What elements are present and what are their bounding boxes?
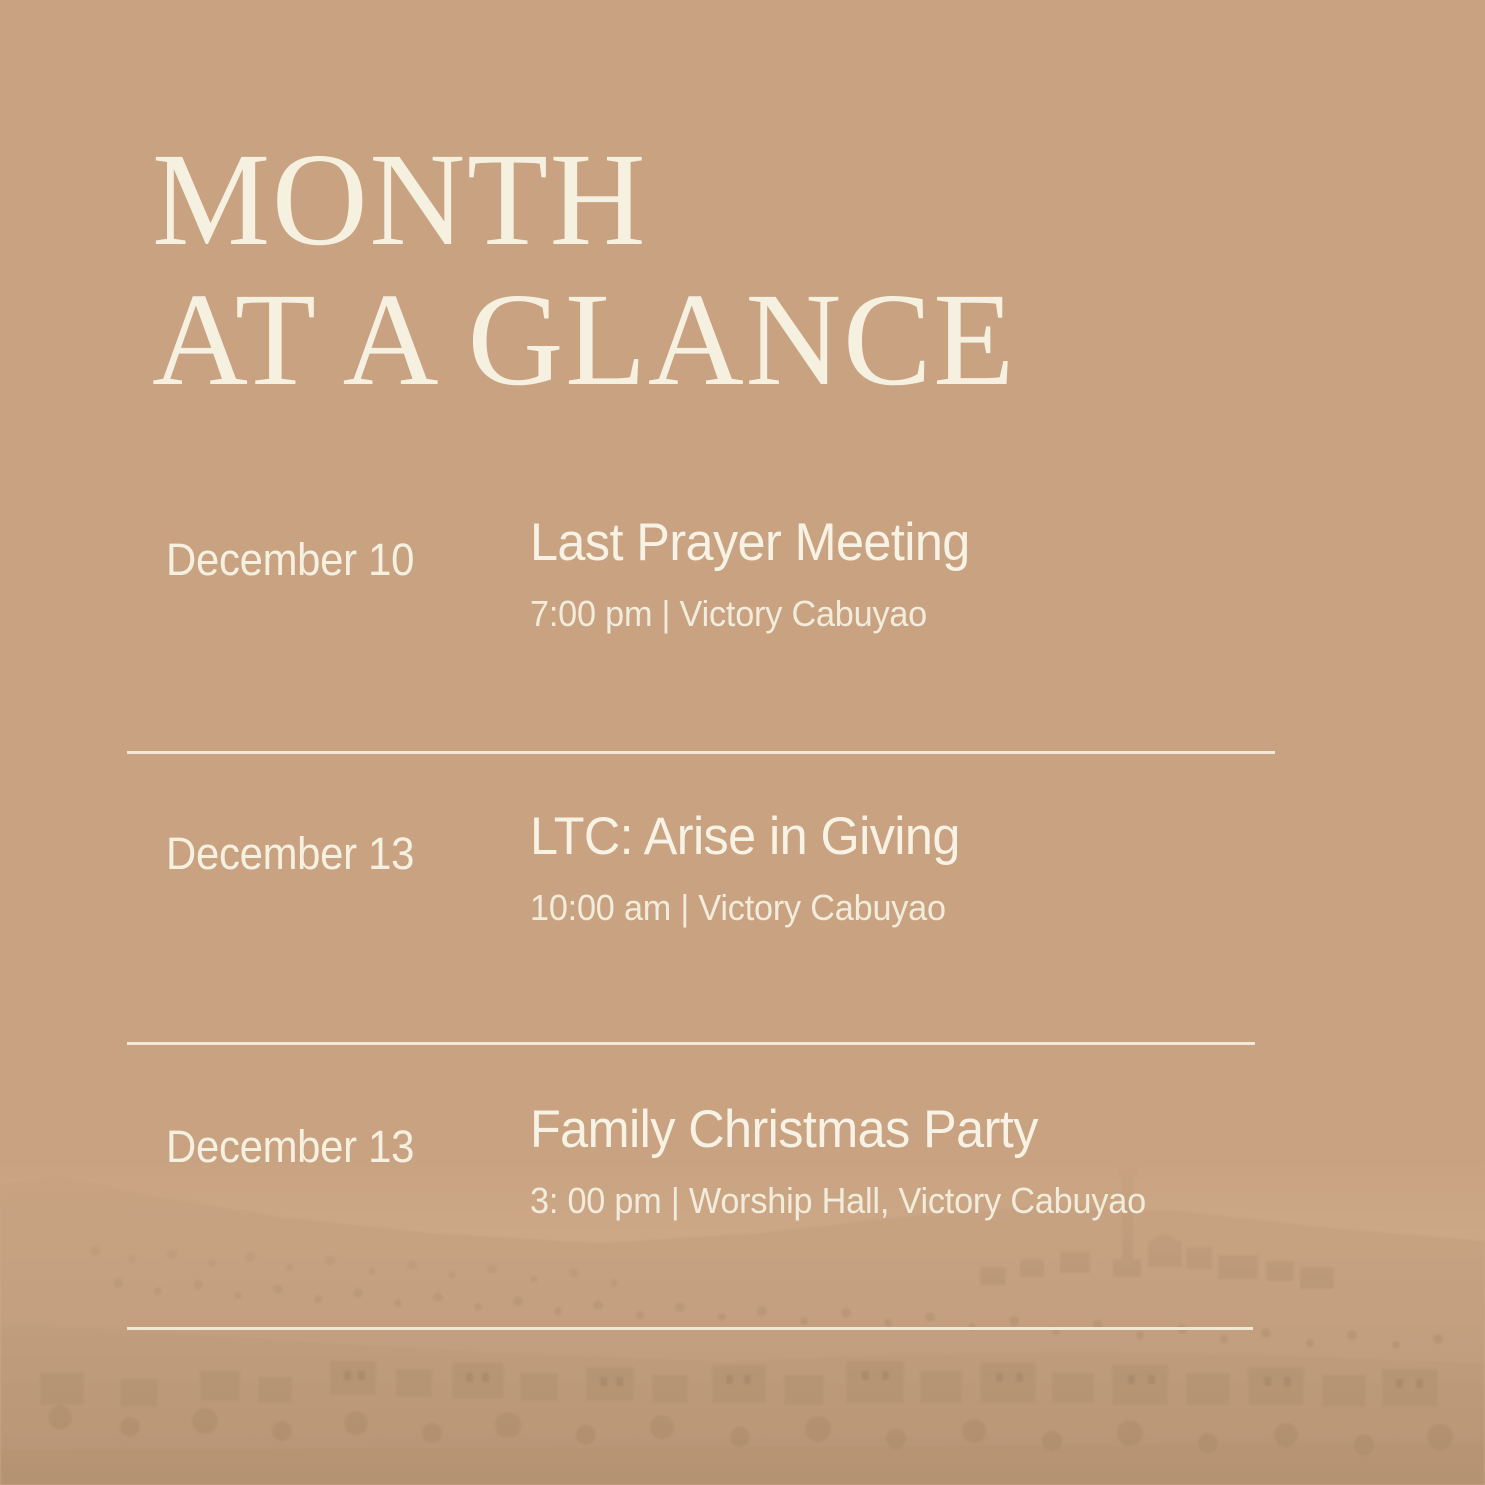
event-title: Family Christmas Party [530,1103,1437,1156]
page-title: MONTH AT A GLANCE [152,132,1252,407]
title-line-at-a-glance: AT A GLANCE [152,272,1252,408]
event-divider [127,1042,1255,1045]
event-date: December 13 [166,810,505,876]
event-row[interactable]: December 13 LTC: Arise in Giving 10:00 a… [0,810,1485,988]
event-details: 10:00 am | Victory Cabuyao [530,890,1437,926]
event-row[interactable]: December 10 Last Prayer Meeting 7:00 pm … [0,516,1485,694]
event-title: Last Prayer Meeting [530,516,1437,569]
events-list: December 10 Last Prayer Meeting 7:00 pm … [0,516,1485,1330]
event-details: 3: 00 pm | Worship Hall, Victory Cabuyao [530,1183,1437,1219]
event-date: December 13 [166,1103,505,1169]
event-divider [127,751,1275,754]
event-body: Last Prayer Meeting 7:00 pm | Victory Ca… [530,516,1485,632]
event-divider [127,1327,1253,1330]
event-body: LTC: Arise in Giving 10:00 am | Victory … [530,810,1485,926]
event-details: 7:00 pm | Victory Cabuyao [530,596,1437,632]
event-row[interactable]: December 13 Family Christmas Party 3: 00… [0,1103,1485,1281]
title-line-month: MONTH [152,132,1252,268]
event-date: December 10 [166,516,505,582]
event-body: Family Christmas Party 3: 00 pm | Worshi… [530,1103,1485,1219]
poster-canvas: MONTH AT A GLANCE December 10 Last Praye… [0,0,1485,1485]
event-title: LTC: Arise in Giving [530,810,1437,863]
